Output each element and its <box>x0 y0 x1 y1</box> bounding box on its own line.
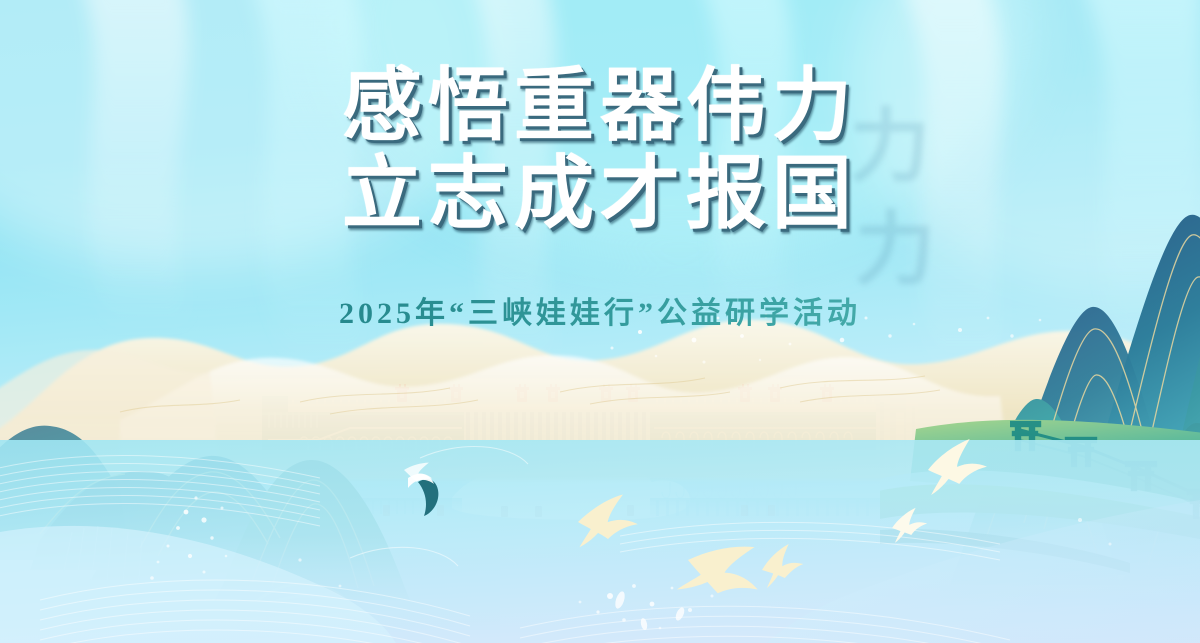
water-body <box>0 440 1200 643</box>
banner-illustration: 力 力 <box>0 0 1200 643</box>
title-block: 感悟重器伟力 立志成才报国 <box>0 62 1200 238</box>
subtitle: 2025年“三峡娃娃行”公益研学活动 <box>0 288 1200 332</box>
title-line-2: 立志成才报国 <box>0 150 1200 238</box>
title-line-1: 感悟重器伟力 <box>0 62 1200 150</box>
